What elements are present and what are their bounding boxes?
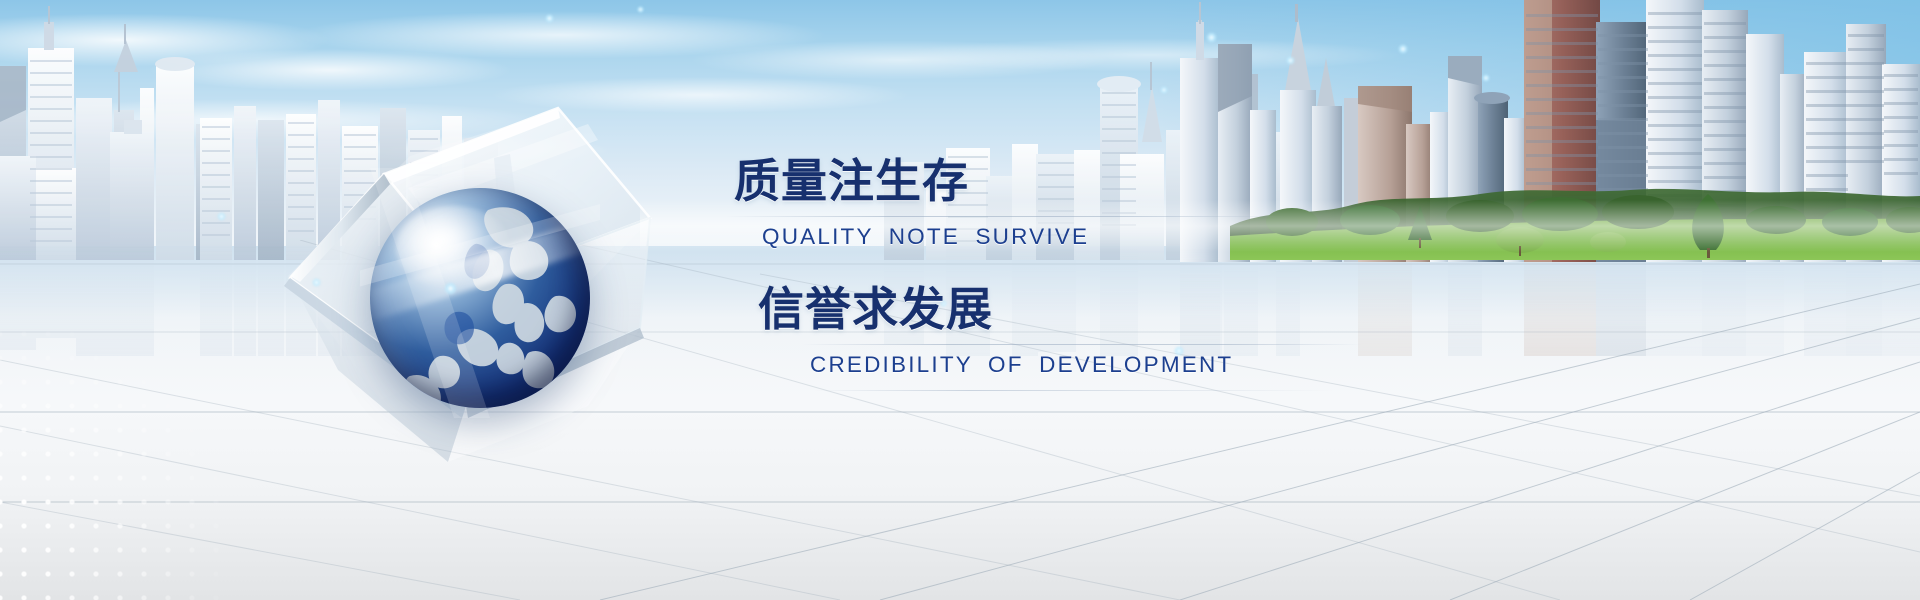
- promo-banner: 质量注生存 QUALITY NOTE SURVIVE 信誉求发展 CREDIBI…: [0, 0, 1920, 600]
- diamond-dot-pattern: [0, 300, 290, 600]
- sparkle-icon: [217, 212, 226, 221]
- earth-globe: [370, 188, 590, 408]
- headline-divider: [802, 344, 1362, 345]
- headline-divider-lower: [814, 390, 1334, 391]
- sparkle-icon: [1206, 32, 1217, 43]
- sparkle-icon: [1160, 86, 1168, 94]
- headline-divider: [726, 216, 1286, 217]
- sparkle-icon: [312, 278, 321, 287]
- headline-english-credibility: CREDIBILITY OF DEVELOPMENT: [810, 354, 1233, 377]
- sparkle-icon: [545, 14, 554, 23]
- sparkle-icon: [1286, 56, 1295, 65]
- headline-english-quality: QUALITY NOTE SURVIVE: [762, 226, 1089, 249]
- sparkle-icon: [637, 6, 644, 13]
- sparkle-icon: [1398, 44, 1408, 54]
- headline-chinese-credibility: 信誉求发展: [758, 286, 993, 332]
- glass-diamond-globe-graphic: [258, 70, 678, 470]
- headline-chinese-quality: 质量注生存: [734, 158, 969, 204]
- sparkle-icon: [1482, 74, 1490, 82]
- sparkle-icon: [444, 282, 457, 295]
